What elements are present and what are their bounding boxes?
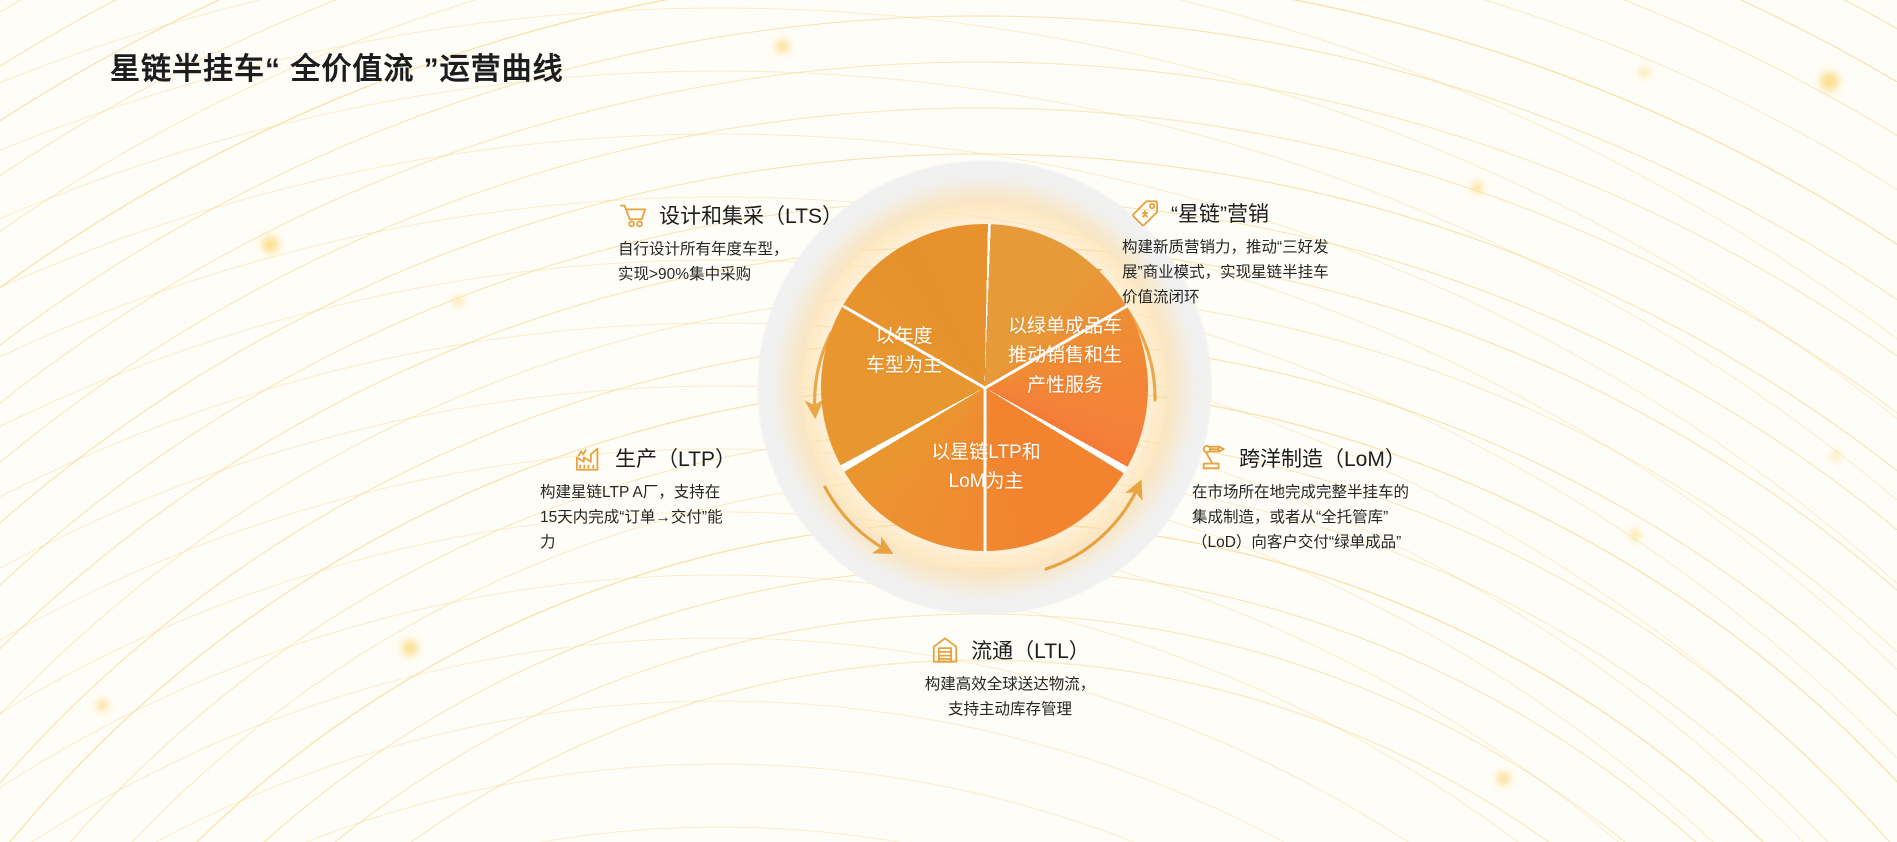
node-ltl-header: 流通（LTL） (860, 635, 1160, 665)
node-lts-title: 设计和集采（LTS） (659, 200, 843, 230)
pie-slice-label-annual-model: 以年度 车型为主 (839, 322, 969, 381)
node-lom-header: 跨洋制造（LoM） (1192, 443, 1522, 473)
node-lom-body: 在市场所在地完成完整半挂车的 集成制造，或者从“全托管库” （LoD）向客户交付… (1192, 480, 1522, 555)
factory-icon (574, 443, 604, 473)
background-dot (97, 700, 108, 711)
node-ltl[interactable]: 流通（LTL） 构建高效全球送达物流， 支持主动库存管理 (860, 635, 1160, 722)
node-lts[interactable]: 设计和集采（LTS） 自行设计所有年度车型， 实现>90%集中采购 (600, 200, 900, 287)
node-lom[interactable]: 跨洋制造（LoM） 在市场所在地完成完整半挂车的 集成制造，或者从“全托管库” … (1192, 443, 1522, 555)
node-lts-header: 设计和集采（LTS） (600, 200, 900, 230)
page-title: 星链半挂车“ 全价值流 ”运营曲线 (110, 44, 564, 88)
slide-canvas: 星链半挂车“ 全价值流 ”运营曲线 (0, 0, 1897, 842)
pie-slice-label-green-order: 以绿单成品车 推动销售和生 产性服务 (999, 312, 1131, 400)
background-dot (402, 640, 418, 656)
node-marketing[interactable]: “星链”营销 构建新质营销力，推动“三好发 展”商业模式，实现星链半挂车 价值流… (1122, 198, 1442, 310)
background-dot (1820, 72, 1839, 91)
background-dot (776, 40, 789, 53)
node-ltl-body: 构建高效全球送达物流， 支持主动库存管理 (860, 672, 1160, 722)
node-marketing-header: “星链”营销 (1122, 198, 1442, 228)
shopping-cart-icon (618, 200, 648, 230)
robot-arm-icon (1198, 443, 1228, 473)
warehouse-icon (930, 635, 960, 665)
pie-slice-label-ltp-lom: 以星链LTP和 LoM为主 (911, 438, 1061, 497)
background-dot (1832, 452, 1840, 460)
node-lom-title: 跨洋制造（LoM） (1239, 443, 1406, 473)
background-dot (262, 236, 279, 253)
node-ltp-header: 生产（LTP） (540, 443, 830, 473)
node-marketing-body: 构建新质营销力，推动“三好发 展”商业模式，实现星链半挂车 价值流闭环 (1122, 235, 1442, 310)
node-marketing-title: “星链”营销 (1171, 198, 1269, 228)
background-dot (1630, 530, 1640, 540)
background-dot (1640, 68, 1649, 77)
node-ltp-title: 生产（LTP） (615, 443, 736, 473)
background-dot (1472, 182, 1483, 193)
background-dot (1497, 772, 1510, 785)
node-ltp-body: 构建星链LTP A厂，支持在 15天内完成“订单→交付”能 力 (540, 480, 830, 555)
node-ltl-title: 流通（LTL） (971, 635, 1090, 665)
node-lts-body: 自行设计所有年度车型， 实现>90%集中采购 (600, 237, 900, 287)
price-tag-icon (1130, 198, 1160, 228)
node-ltp[interactable]: 生产（LTP） 构建星链LTP A厂，支持在 15天内完成“订单→交付”能 力 (540, 443, 830, 555)
background-dot (454, 297, 463, 306)
